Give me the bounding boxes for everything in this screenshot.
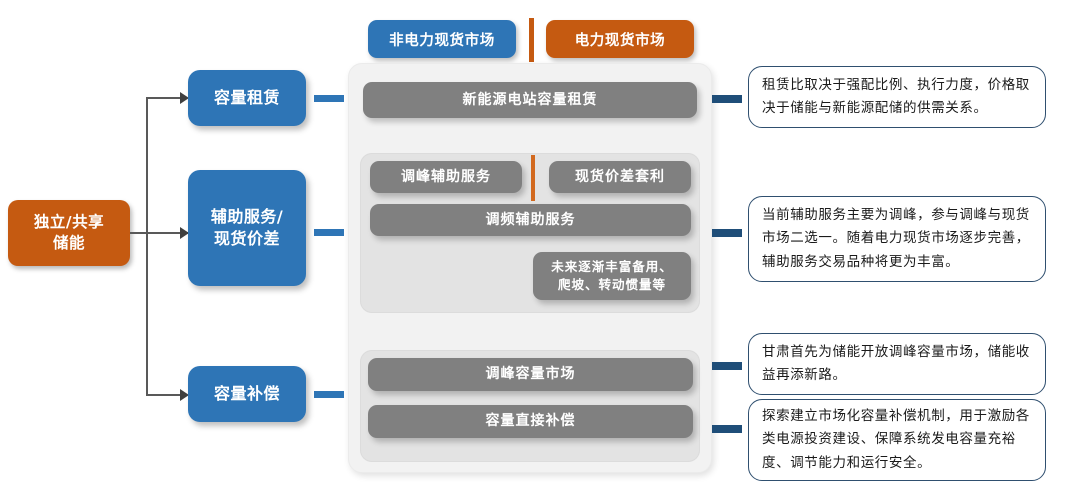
mechanism-future-products: 未来逐渐丰富备用、 爬坡、转动惯量等	[533, 252, 691, 300]
legend-non-spot-market: 非电力现货市场	[368, 20, 516, 58]
mechanism-peak-shaving-ancillary: 调峰辅助服务	[370, 161, 522, 193]
connector-branch-1	[146, 97, 182, 99]
connector-stub-ancillary	[314, 229, 344, 236]
category-capacity-lease: 容量租赁	[188, 70, 306, 126]
connector-stub-callout-4	[712, 425, 742, 433]
spot-market-divider	[531, 155, 535, 201]
connector-stub-lease	[314, 95, 344, 102]
category-capacity-compensation: 容量补偿	[188, 366, 306, 422]
callout-ancillary-service: 当前辅助服务主要为调峰，参与调峰与现货市场二选一。随着电力现货市场逐步完善，辅助…	[748, 196, 1046, 282]
connector-stub-callout-2	[712, 229, 742, 237]
callout-capacity-compensation: 探索建立市场化容量补偿机制，用于激励各类电源投资建设、保障系统发电容量充裕度、调…	[748, 399, 1046, 481]
connector-stub-callout-3	[712, 362, 742, 370]
legend-spot-market: 电力现货市场	[546, 20, 694, 58]
connector-vertical-trunk	[146, 97, 148, 395]
connector-branch-3	[146, 394, 182, 396]
callout-capacity-lease: 租赁比取决于强配比例、执行力度，价格取决于储能与新能源配储的供需关系。	[748, 66, 1046, 128]
connector-branch-2	[146, 232, 182, 234]
mechanism-direct-capacity-compensation: 容量直接补偿	[368, 405, 693, 438]
connector-stub-compensation	[314, 391, 344, 398]
diagram-canvas: 独立/共享 储能 容量租赁 辅助服务/ 现货价差 容量补偿 非电力现货市场 电力…	[0, 0, 1080, 491]
category-ancillary-spot-spread: 辅助服务/ 现货价差	[188, 170, 306, 286]
source-node-shared-storage: 独立/共享 储能	[8, 200, 130, 266]
callout-peak-capacity-market: 甘肃首先为储能开放调峰容量市场，储能收益再添新路。	[748, 333, 1046, 395]
mechanism-spot-price-arbitrage: 现货价差套利	[549, 161, 691, 193]
legend-divider	[529, 18, 534, 62]
mechanism-peak-capacity-market: 调峰容量市场	[368, 358, 693, 391]
mechanism-frequency-ancillary: 调频辅助服务	[370, 204, 691, 236]
connector-stub-callout-1	[712, 95, 742, 103]
mechanism-capacity-lease: 新能源电站容量租赁	[363, 82, 697, 118]
